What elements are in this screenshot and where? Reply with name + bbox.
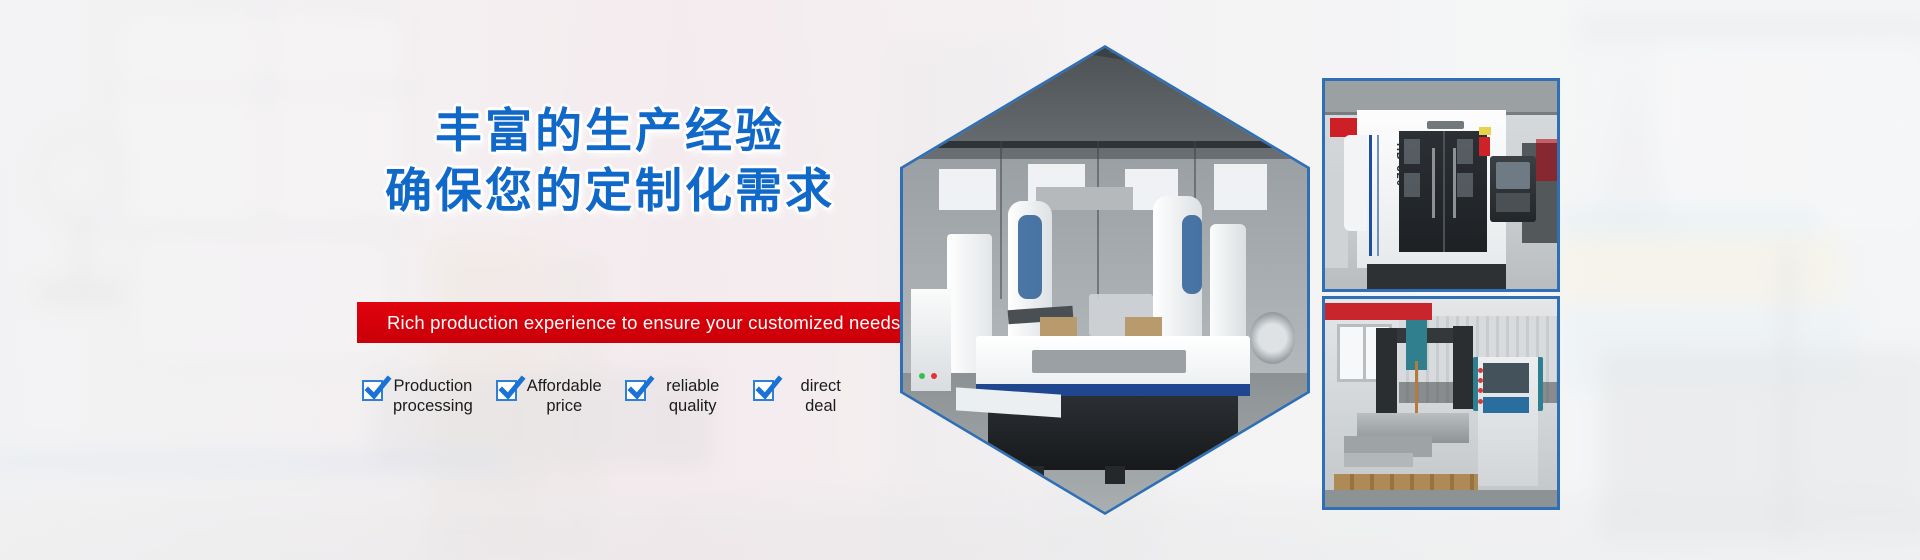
- machine-tower-3: [1210, 224, 1246, 345]
- headline-line-2: 确保您的定制化需求: [300, 164, 920, 220]
- feature-item-production-processing[interactable]: Production processing: [362, 376, 473, 416]
- hd-shoulder-left: [1344, 135, 1367, 231]
- machine-foot-3: [1178, 466, 1198, 485]
- feature-item-direct-deal[interactable]: direct deal: [753, 376, 858, 416]
- feature-label: Production processing: [393, 376, 473, 416]
- checkbox-checked-icon[interactable]: [496, 380, 517, 401]
- hd-door-glass-1: [1404, 139, 1420, 164]
- photo-wall-grid-2: [1097, 141, 1099, 299]
- hd-emergency-stop-panel: [1479, 137, 1489, 156]
- headline-block: 丰富的生产经验 确保您的定制化需求: [300, 104, 920, 220]
- hexagon-border: [900, 45, 1310, 515]
- subtitle-text: Rich production experience to ensure you…: [357, 312, 900, 334]
- feature-item-reliable-quality[interactable]: reliable quality: [625, 376, 730, 416]
- hd-door-handle-right: [1453, 148, 1456, 219]
- hd-control-screen: [1496, 162, 1531, 189]
- machine-indicator-green: [919, 373, 925, 379]
- hd-door-handle-left: [1432, 148, 1435, 219]
- hd-door-split: [1443, 131, 1445, 252]
- photo-wall-sign: [1036, 187, 1133, 210]
- feature-label: reliable quality: [656, 376, 730, 416]
- checkbox-checked-icon[interactable]: [753, 380, 774, 401]
- photo-window-4: [1214, 164, 1267, 210]
- headline-line-1: 丰富的生产经验: [300, 104, 920, 160]
- cnc-drilling-boring-machine-photo: [1322, 296, 1560, 510]
- edm-button-1: [1478, 368, 1483, 373]
- edm-column-left: [1376, 328, 1397, 420]
- hd-door-glass-2: [1404, 173, 1420, 198]
- edm-work-plate: [1344, 453, 1414, 468]
- machine-foot-1: [1024, 466, 1044, 485]
- machine-bed-window: [1032, 350, 1186, 373]
- edm-ground: [1325, 490, 1557, 507]
- edm-window-mullion: [1363, 324, 1366, 382]
- feature-list: Production processing Affordable price r…: [362, 376, 881, 416]
- hd-warning-label: [1479, 127, 1491, 135]
- feature-label: direct deal: [784, 376, 858, 416]
- promo-banner: 丰富的生产经验 确保您的定制化需求 Rich production experi…: [0, 0, 1920, 560]
- edm-column-right: [1453, 326, 1474, 409]
- checkbox-checked-icon[interactable]: [625, 380, 646, 401]
- checkbox-checked-icon[interactable]: [362, 380, 383, 401]
- edm-button-4: [1478, 399, 1483, 404]
- hd-plinth: [1367, 264, 1506, 289]
- edm-wall-banner: [1325, 303, 1432, 320]
- edm-control-screen: [1483, 363, 1529, 392]
- photo-beam: [903, 141, 1307, 148]
- feature-label: Affordable price: [527, 376, 602, 416]
- cnc-machining-center-photo: HD-320: [1322, 78, 1560, 292]
- subtitle-bar: Rich production experience to ensure you…: [357, 302, 902, 343]
- hd-control-keypad: [1496, 193, 1531, 212]
- edm-control-panel: [1483, 397, 1529, 414]
- machine-coil: [1250, 312, 1294, 363]
- machine-tower-1-panel: [1018, 215, 1042, 299]
- hd-side-red: [1536, 139, 1557, 181]
- machine-tower-2-panel: [1182, 215, 1202, 294]
- hd-brand-plate: [1427, 121, 1464, 129]
- photo-window-1: [939, 169, 996, 211]
- feature-item-affordable-price[interactable]: Affordable price: [496, 376, 602, 416]
- hexagon-photo-frame: [900, 45, 1310, 515]
- cnc-double-head-milling-machine-photo: [903, 48, 1307, 512]
- machine-foot-2: [1105, 466, 1125, 485]
- photo-wall-grid-1: [1000, 141, 1002, 299]
- hd-door-glass-4: [1457, 173, 1473, 198]
- hd-door-glass-3: [1457, 139, 1473, 164]
